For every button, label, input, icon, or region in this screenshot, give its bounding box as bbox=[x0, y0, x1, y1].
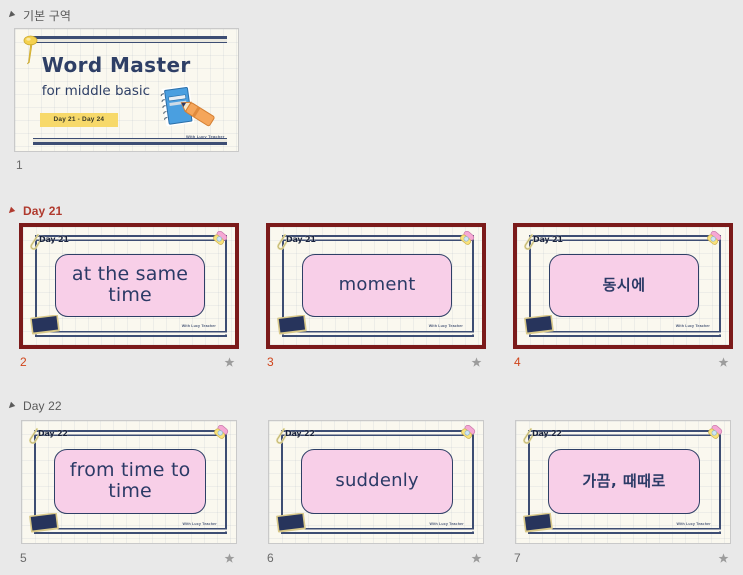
slide-thumbnail-pane[interactable]: 기본 구역 Word Master for middle basic Day 2… bbox=[0, 0, 743, 575]
word-text: suddenly bbox=[331, 471, 422, 491]
eraser-icon bbox=[703, 231, 723, 249]
credit-text: With Lucy Teacher bbox=[182, 324, 216, 328]
day-tag: Day 22 bbox=[38, 429, 68, 438]
slide-caption-2: 2 bbox=[20, 355, 235, 369]
title-rule-bottom bbox=[33, 142, 227, 145]
section-header-day22[interactable]: Day 22 bbox=[2, 397, 62, 415]
word-box: moment bbox=[302, 254, 453, 317]
animation-star-icon[interactable] bbox=[471, 357, 482, 368]
eraser-icon bbox=[210, 425, 230, 443]
slide-caption-6: 6 bbox=[267, 551, 482, 565]
slide-number: 3 bbox=[267, 355, 274, 369]
credit-text: With Lucy Teacher bbox=[186, 134, 225, 139]
day-tag: Day 22 bbox=[285, 429, 315, 438]
slide-thumbnail-7[interactable]: Day 22 가끔, 때때로 With bbox=[515, 420, 731, 544]
slide-caption-1: 1 bbox=[16, 158, 238, 172]
triangle-down-icon[interactable] bbox=[7, 401, 17, 411]
section-label: Day 22 bbox=[23, 399, 62, 413]
title-text: Word Master bbox=[42, 53, 191, 77]
word-box: suddenly bbox=[301, 449, 453, 514]
word-box: 동시에 bbox=[549, 254, 700, 317]
slide-rule-bottom bbox=[529, 335, 721, 337]
chalkboard-icon bbox=[277, 315, 307, 335]
chalkboard-icon bbox=[276, 513, 306, 533]
slide-frame: Day 22 from time to time bbox=[21, 420, 237, 544]
word-text: from time to time bbox=[55, 460, 205, 503]
slide-thumbnail-5[interactable]: Day 22 from time to time bbox=[21, 420, 237, 544]
day-tag: Day 22 bbox=[532, 429, 562, 438]
section-header-day21[interactable]: Day 21 bbox=[2, 202, 62, 220]
slide-rule-bottom bbox=[282, 335, 474, 337]
day-tag: Day 21 bbox=[286, 235, 316, 244]
slide-caption-3: 3 bbox=[267, 355, 482, 369]
slide-thumbnail-1[interactable]: Word Master for middle basic Day 21 - Da… bbox=[14, 28, 239, 152]
slide-thumbnail-4[interactable]: Day 21 동시에 With Luc bbox=[513, 223, 733, 349]
credit-text: With Lucy Teacher bbox=[430, 522, 464, 526]
word-box: 가끔, 때때로 bbox=[548, 449, 700, 514]
slide-canvas: Day 22 가끔, 때때로 With bbox=[516, 421, 730, 543]
subtitle-text: for middle basic bbox=[42, 83, 150, 99]
slide-canvas: Word Master for middle basic Day 21 - Da… bbox=[15, 29, 238, 151]
chalkboard-icon bbox=[29, 513, 59, 533]
slide-frame: Day 21 at the same time bbox=[19, 223, 239, 349]
slide-rule-bottom bbox=[34, 532, 228, 534]
slide-caption-4: 4 bbox=[514, 355, 729, 369]
slide-frame: Word Master for middle basic Day 21 - Da… bbox=[14, 28, 239, 152]
animation-star-icon[interactable] bbox=[718, 553, 729, 564]
eraser-icon bbox=[457, 425, 477, 443]
animation-star-icon[interactable] bbox=[471, 553, 482, 564]
slide-thumbnail-6[interactable]: Day 22 suddenly Wit bbox=[268, 420, 484, 544]
chalkboard-icon bbox=[524, 315, 554, 335]
slide-rule-bottom bbox=[528, 532, 722, 534]
word-text: moment bbox=[335, 275, 420, 295]
credit-text: With Lucy Teacher bbox=[429, 324, 463, 328]
pushpin-icon bbox=[22, 35, 39, 65]
slide-canvas: Day 21 moment With bbox=[270, 227, 482, 345]
slide-rule-bottom bbox=[281, 532, 475, 534]
slide-canvas: Day 22 suddenly Wit bbox=[269, 421, 483, 543]
credit-text: With Lucy Teacher bbox=[183, 522, 217, 526]
chalkboard-icon bbox=[30, 315, 60, 335]
slide-number: 5 bbox=[20, 551, 27, 565]
credit-text: With Lucy Teacher bbox=[677, 522, 711, 526]
slide-frame: Day 22 suddenly Wit bbox=[268, 420, 484, 544]
word-text: at the same time bbox=[56, 264, 205, 307]
credit-text: With Lucy Teacher bbox=[676, 324, 710, 328]
section-label: Day 21 bbox=[23, 204, 62, 218]
notebook-pencil-icon bbox=[158, 83, 220, 133]
day-tag: Day 21 bbox=[39, 235, 69, 244]
eraser-icon bbox=[456, 231, 476, 249]
word-box: at the same time bbox=[55, 254, 206, 317]
slide-thumbnail-2[interactable]: Day 21 at the same time bbox=[19, 223, 239, 349]
slide-frame: Day 22 가끔, 때때로 With bbox=[515, 420, 731, 544]
eraser-icon bbox=[704, 425, 724, 443]
animation-star-icon[interactable] bbox=[224, 553, 235, 564]
animation-star-icon[interactable] bbox=[718, 357, 729, 368]
slide-canvas: Day 22 from time to time bbox=[22, 421, 236, 543]
slide-canvas: Day 21 동시에 With Luc bbox=[517, 227, 729, 345]
section-label: 기본 구역 bbox=[23, 7, 71, 24]
chalkboard-icon bbox=[523, 513, 553, 533]
animation-star-icon[interactable] bbox=[224, 357, 235, 368]
word-text: 동시에 bbox=[599, 277, 650, 294]
slide-frame: Day 21 moment With bbox=[266, 223, 486, 349]
word-box: from time to time bbox=[54, 449, 206, 514]
slide-frame: Day 21 동시에 With Luc bbox=[513, 223, 733, 349]
slide-thumbnail-3[interactable]: Day 21 moment With bbox=[266, 223, 486, 349]
slide-number: 4 bbox=[514, 355, 521, 369]
slide-number: 2 bbox=[20, 355, 27, 369]
slide-number: 1 bbox=[16, 158, 23, 172]
triangle-down-icon[interactable] bbox=[7, 10, 17, 20]
slide-caption-5: 5 bbox=[20, 551, 235, 565]
slide-caption-7: 7 bbox=[514, 551, 729, 565]
triangle-down-icon[interactable] bbox=[7, 206, 17, 216]
slide-number: 6 bbox=[267, 551, 274, 565]
section-header-default[interactable]: 기본 구역 bbox=[2, 6, 71, 24]
day-tag: Day 21 bbox=[533, 235, 563, 244]
title-rule-top bbox=[33, 36, 227, 39]
date-range-badge: Day 21 - Day 24 bbox=[40, 113, 119, 127]
slide-rule-bottom bbox=[35, 335, 227, 337]
eraser-icon bbox=[209, 231, 229, 249]
slide-canvas: Day 21 at the same time bbox=[23, 227, 235, 345]
word-text: 가끔, 때때로 bbox=[578, 473, 669, 490]
slide-number: 7 bbox=[514, 551, 521, 565]
